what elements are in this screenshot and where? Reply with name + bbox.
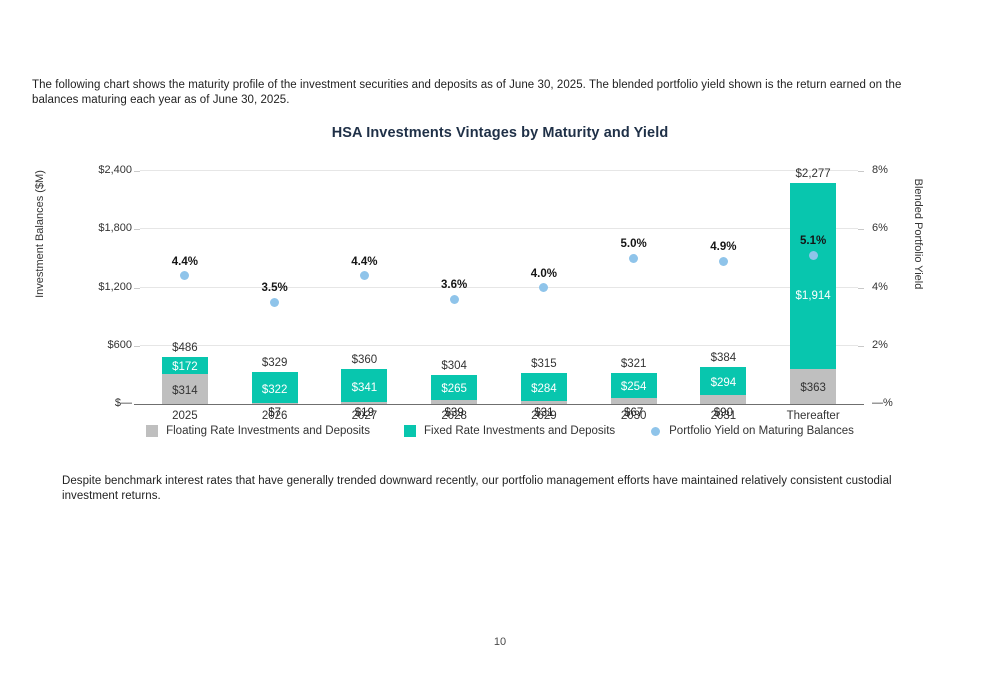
outro-paragraph: Despite benchmark interest rates that ha… [62, 474, 904, 505]
x-axis-tick-label: 2031 [678, 410, 768, 422]
y-axis-right-tick-label: 4% [872, 281, 912, 293]
y-axis-right-title: Blended Portfolio Yield [912, 134, 924, 334]
chart-title: HSA Investments Vintages by Maturity and… [0, 125, 1000, 141]
y-axis-right-tick-label: 8% [872, 164, 912, 176]
yield-point[interactable] [539, 283, 548, 292]
bar-total-label: $360 [329, 354, 399, 366]
bar-label-fixed-rate: $322 [252, 384, 298, 396]
bar-total-label: $329 [240, 357, 310, 369]
bar-total-label: $315 [509, 358, 579, 370]
bar-label-floating-rate: $363 [790, 382, 836, 394]
bar-label-fixed-rate: $294 [700, 377, 746, 389]
bar-label-fixed-rate: $265 [431, 383, 477, 395]
yield-point-label: 5.0% [599, 238, 669, 250]
y-axis-left-tick-label: $1,200 [60, 281, 132, 293]
yield-point[interactable] [629, 254, 638, 263]
bar-label-fixed-rate: $1,914 [790, 290, 836, 302]
x-axis-line [134, 404, 864, 406]
bar-label-fixed-rate: $284 [521, 383, 567, 395]
bar-total-label: $384 [688, 352, 758, 364]
legend-item-fixed-rate[interactable]: Fixed Rate Investments and Deposits [404, 425, 615, 437]
yield-point[interactable] [719, 257, 728, 266]
bar-segment-fixed-rate[interactable] [790, 183, 836, 369]
yield-point[interactable] [450, 295, 459, 304]
yield-point-label: 4.9% [688, 241, 758, 253]
x-axis-tick-label: 2025 [140, 410, 230, 422]
x-axis-tick-label: 2030 [589, 410, 679, 422]
fixed-rate-swatch-icon [404, 425, 416, 437]
yield-point-label: 3.5% [240, 282, 310, 294]
yield-point-label: 3.6% [419, 279, 489, 291]
chart-figure: HSA Investments Vintages by Maturity and… [0, 118, 1000, 454]
y-axis-right-tick-mark [858, 229, 864, 230]
yield-point[interactable] [180, 271, 189, 280]
x-axis-tick-label: 2027 [319, 410, 409, 422]
gridline [140, 345, 858, 346]
y-axis-left-title: Investment Balances ($M) [34, 134, 46, 334]
intro-paragraph: The following chart shows the maturity p… [32, 78, 932, 109]
gridline [140, 170, 858, 171]
bar-label-floating-rate: $314 [162, 385, 208, 397]
bar-label-fixed-rate: $254 [611, 381, 657, 393]
y-axis-left-tick-label: $— [60, 397, 132, 409]
y-axis-right-tick-mark [858, 288, 864, 289]
bar-total-label: $304 [419, 360, 489, 372]
bar-label-fixed-rate: $341 [341, 382, 387, 394]
x-axis-tick-label: 2026 [230, 410, 320, 422]
y-axis-left-tick-label: $2,400 [60, 164, 132, 176]
y-axis-left-tick-label: $600 [60, 339, 132, 351]
y-axis-right-tick-label: 2% [872, 339, 912, 351]
yield-point[interactable] [809, 251, 818, 260]
y-axis-right-tick-mark [858, 346, 864, 347]
yield-point-label: 4.4% [329, 256, 399, 268]
bar-total-label: $321 [599, 358, 669, 370]
chart-legend: Floating Rate Investments and Deposits F… [0, 425, 1000, 437]
y-axis-left-tick-label: $1,800 [60, 222, 132, 234]
y-axis-right-tick-mark [858, 171, 864, 172]
legend-item-portfolio-yield[interactable]: Portfolio Yield on Maturing Balances [649, 425, 854, 437]
y-axis-right-tick-label: 6% [872, 222, 912, 234]
bar-total-label: $486 [150, 342, 220, 354]
x-axis-tick-label: Thereafter [768, 410, 858, 422]
yield-point[interactable] [270, 298, 279, 307]
bar-label-fixed-rate: $172 [162, 361, 208, 373]
portfolio-yield-dot-icon [651, 427, 660, 436]
legend-label-floating-rate: Floating Rate Investments and Deposits [166, 425, 370, 437]
bar-total-label: $2,277 [778, 168, 848, 180]
floating-rate-swatch-icon [146, 425, 158, 437]
legend-label-fixed-rate: Fixed Rate Investments and Deposits [424, 425, 615, 437]
yield-point-label: 4.0% [509, 268, 579, 280]
plot-area: $314$172$486$7$322$329$19$341$360$39$265… [140, 171, 858, 404]
page-number: 10 [0, 636, 1000, 648]
legend-item-floating-rate[interactable]: Floating Rate Investments and Deposits [146, 425, 370, 437]
yield-point-label: 5.1% [778, 235, 848, 247]
legend-label-portfolio-yield: Portfolio Yield on Maturing Balances [669, 425, 854, 437]
yield-point-label: 4.4% [150, 256, 220, 268]
gridline [140, 228, 858, 229]
yield-point[interactable] [360, 271, 369, 280]
y-axis-right-tick-label: —% [872, 397, 912, 409]
x-axis-tick-label: 2029 [499, 410, 589, 422]
x-axis-tick-label: 2028 [409, 410, 499, 422]
